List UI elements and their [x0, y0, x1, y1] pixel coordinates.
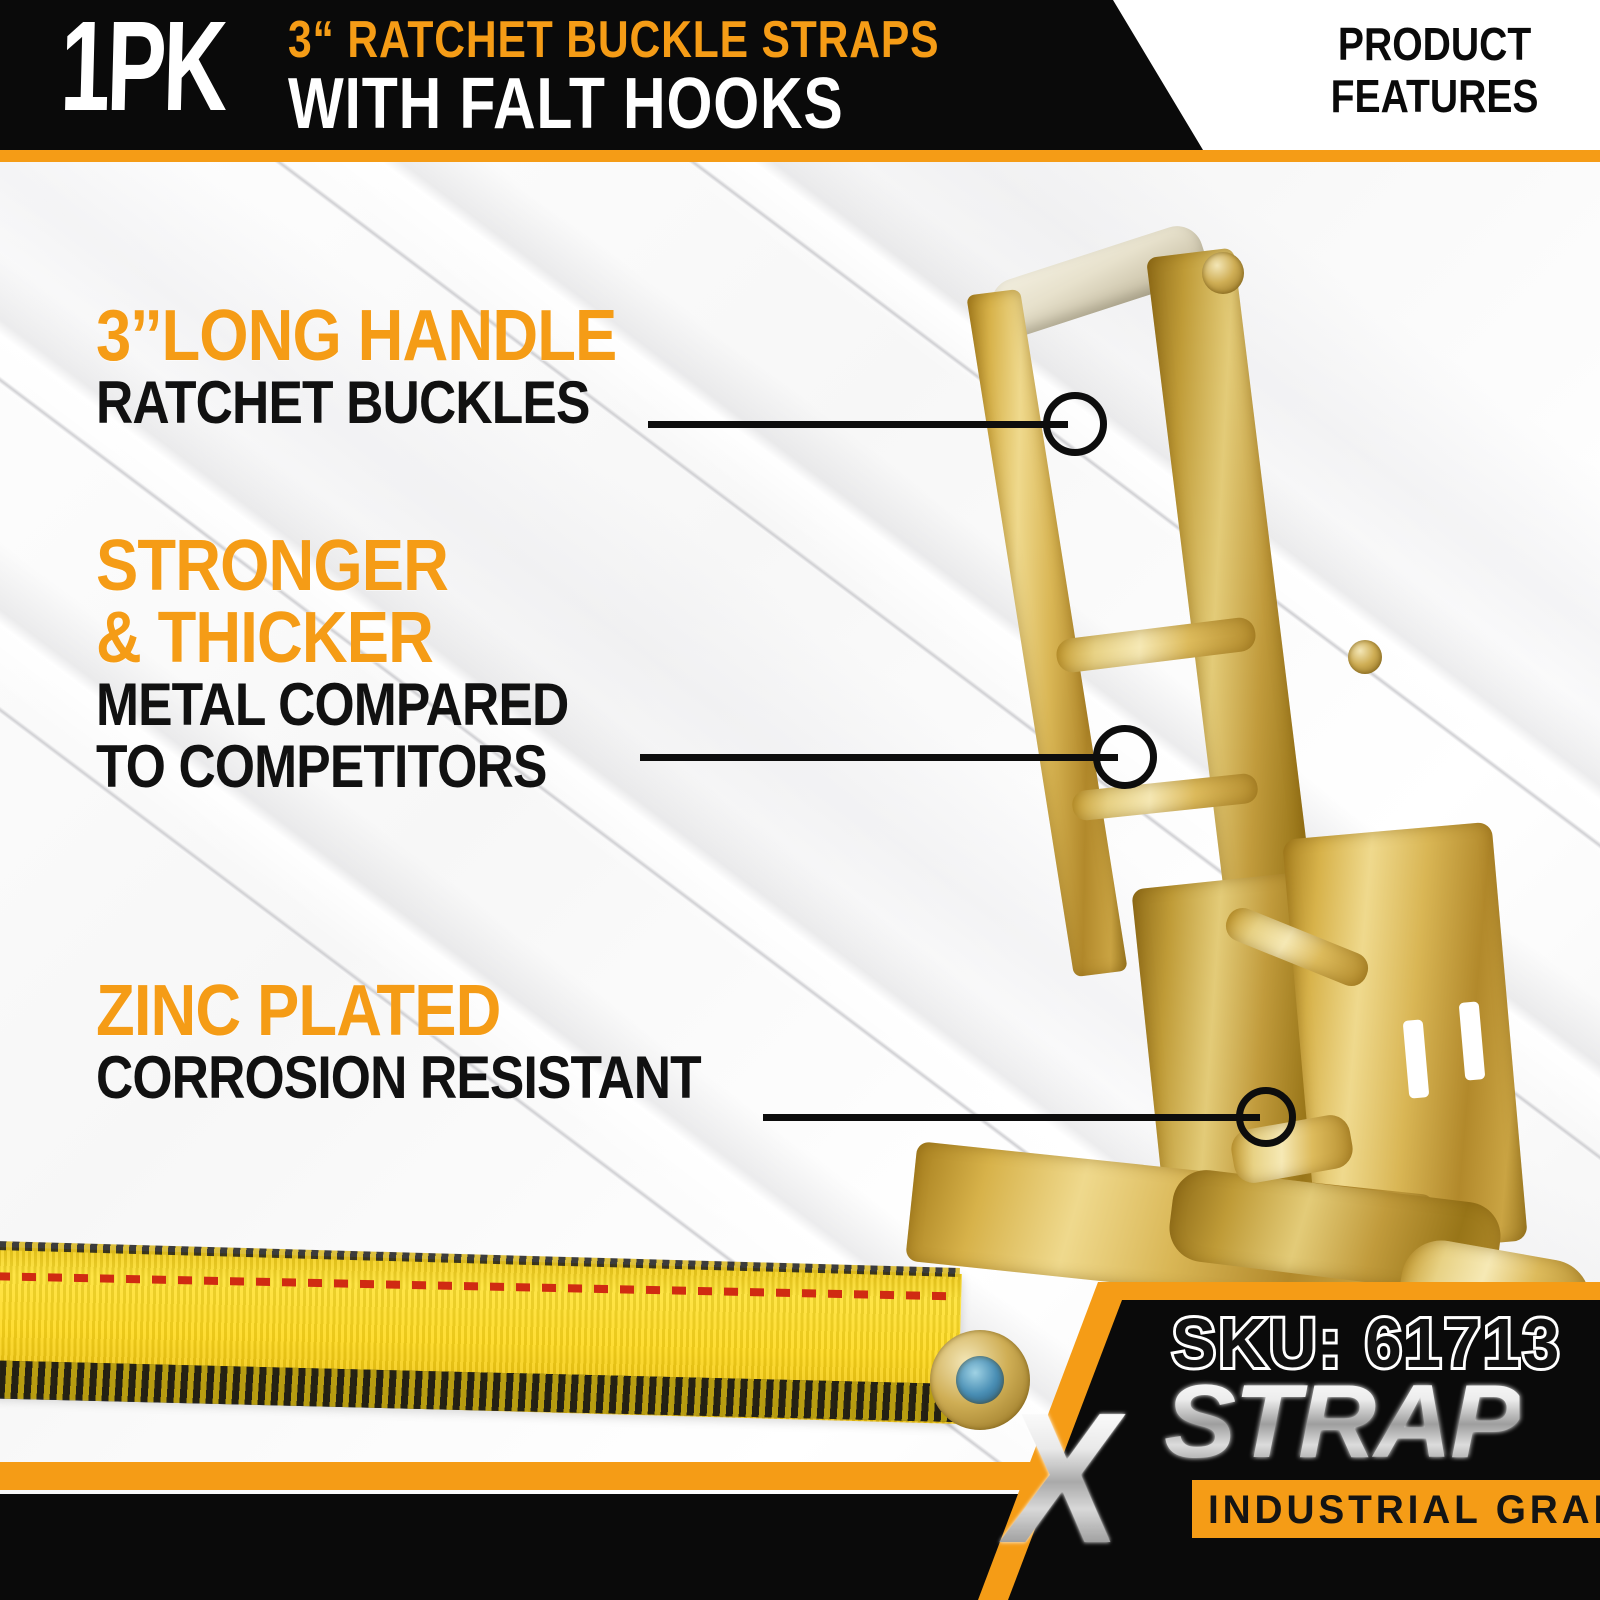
section-label-line2: FEATURES	[1330, 70, 1538, 122]
feature-subline: RATCHET BUCKLES	[96, 372, 605, 434]
brand-logo: X STRAP INDUSTRIAL GRADE	[996, 1366, 1556, 1556]
brand-wordmark: STRAP	[1164, 1370, 1520, 1474]
header-bar: 1PK 3“ RATCHET BUCKLE STRAPS WITH FALT H…	[0, 0, 1600, 162]
header-title-line1: 3“ RATCHET BUCKLE STRAPS	[288, 14, 939, 66]
brand-tagline-text: INDUSTRIAL GRADE	[1208, 1490, 1600, 1530]
feature-headline-line2: & THICKER	[96, 602, 579, 674]
header-title-group: 3“ RATCHET BUCKLE STRAPS WITH FALT HOOKS	[288, 14, 1082, 142]
feature-item-2: STRONGER & THICKER METAL COMPARED TO COM…	[96, 530, 645, 798]
feature-subline: CORROSION RESISTANT	[96, 1047, 701, 1109]
pack-count-badge: 1PK	[59, 4, 226, 130]
feature-item-1: 3’’LONG HANDLE RATCHET BUCKLES	[96, 300, 687, 434]
header-accent-stripe	[0, 150, 1600, 162]
section-label: PRODUCT FEATURES	[1330, 18, 1538, 122]
brand-x-mark: X	[996, 1404, 1132, 1554]
feature-subline-line1: METAL COMPARED	[96, 674, 568, 736]
infographic-canvas: 3’’LONG HANDLE RATCHET BUCKLES STRONGER …	[0, 0, 1600, 1600]
feature-headline: ZINC PLATED	[96, 975, 715, 1047]
feature-item-3: ZINC PLATED CORROSION RESISTANT	[96, 975, 799, 1109]
header-title-line2: WITH FALT HOOKS	[288, 66, 939, 142]
brand-tagline-badge: INDUSTRIAL GRADE	[1192, 1480, 1600, 1538]
section-label-line1: PRODUCT	[1330, 18, 1538, 70]
feature-headline-line1: STRONGER	[96, 530, 579, 602]
feature-subline-line2: TO COMPETITORS	[96, 736, 568, 798]
feature-headline: 3’’LONG HANDLE	[96, 300, 616, 372]
